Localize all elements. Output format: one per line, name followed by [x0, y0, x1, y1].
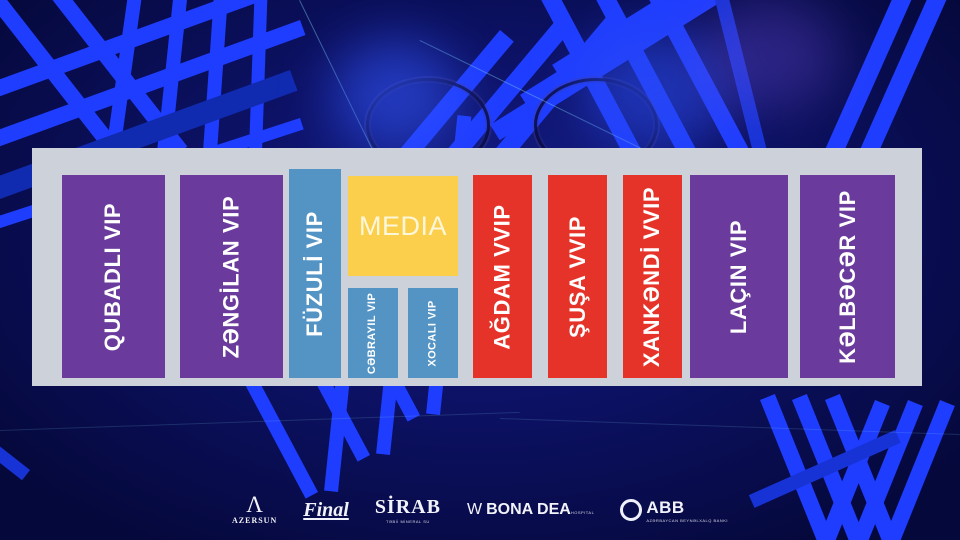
seating-zone-label: XOCALI VIP [428, 300, 439, 366]
seating-zone-label: KƏLBƏCƏR VIP [837, 190, 859, 364]
stadium-seating-graphic: QUBADLI VIPZƏNGİLAN VIPFÜZULİ VIPMEDIACƏ… [0, 0, 960, 540]
seating-zone-label: AĞDAM VVIP [492, 204, 514, 349]
seating-zone-xocali[interactable]: XOCALI VIP [408, 288, 458, 378]
seating-zone-qubadli[interactable]: QUBADLI VIP [62, 175, 165, 378]
seating-zone-cebrayil[interactable]: CƏBRAYIL VIP [348, 288, 398, 378]
seating-zone-kelbecer[interactable]: KƏLBƏCƏR VIP [800, 175, 895, 378]
seating-zone-label: LAÇIN VIP [728, 219, 750, 333]
seating-zone-fuzuli[interactable]: FÜZULİ VIP [289, 169, 341, 378]
seating-zone-agdam[interactable]: AĞDAM VVIP [473, 175, 532, 378]
seating-zone-zengilan[interactable]: ZƏNGİLAN VIP [180, 175, 283, 378]
seating-zone-media[interactable]: MEDIA [348, 176, 458, 276]
seating-zone-label: FÜZULİ VIP [304, 211, 326, 337]
seating-zone-label: CƏBRAYIL VIP [368, 292, 379, 373]
seating-zone-lacin[interactable]: LAÇIN VIP [690, 175, 788, 378]
seating-zone-label: XANKƏNDİ VVIP [642, 186, 664, 366]
seating-zone-label: ŞUŞA VVIP [567, 216, 589, 338]
seating-zone-label: ZƏNGİLAN VIP [221, 195, 243, 358]
seating-zone-xankendi[interactable]: XANKƏNDİ VVIP [623, 175, 682, 378]
seating-zone-label: MEDIA [359, 213, 447, 240]
seating-zone-label: QUBADLI VIP [103, 202, 125, 350]
seating-zone-susa[interactable]: ŞUŞA VVIP [548, 175, 607, 378]
